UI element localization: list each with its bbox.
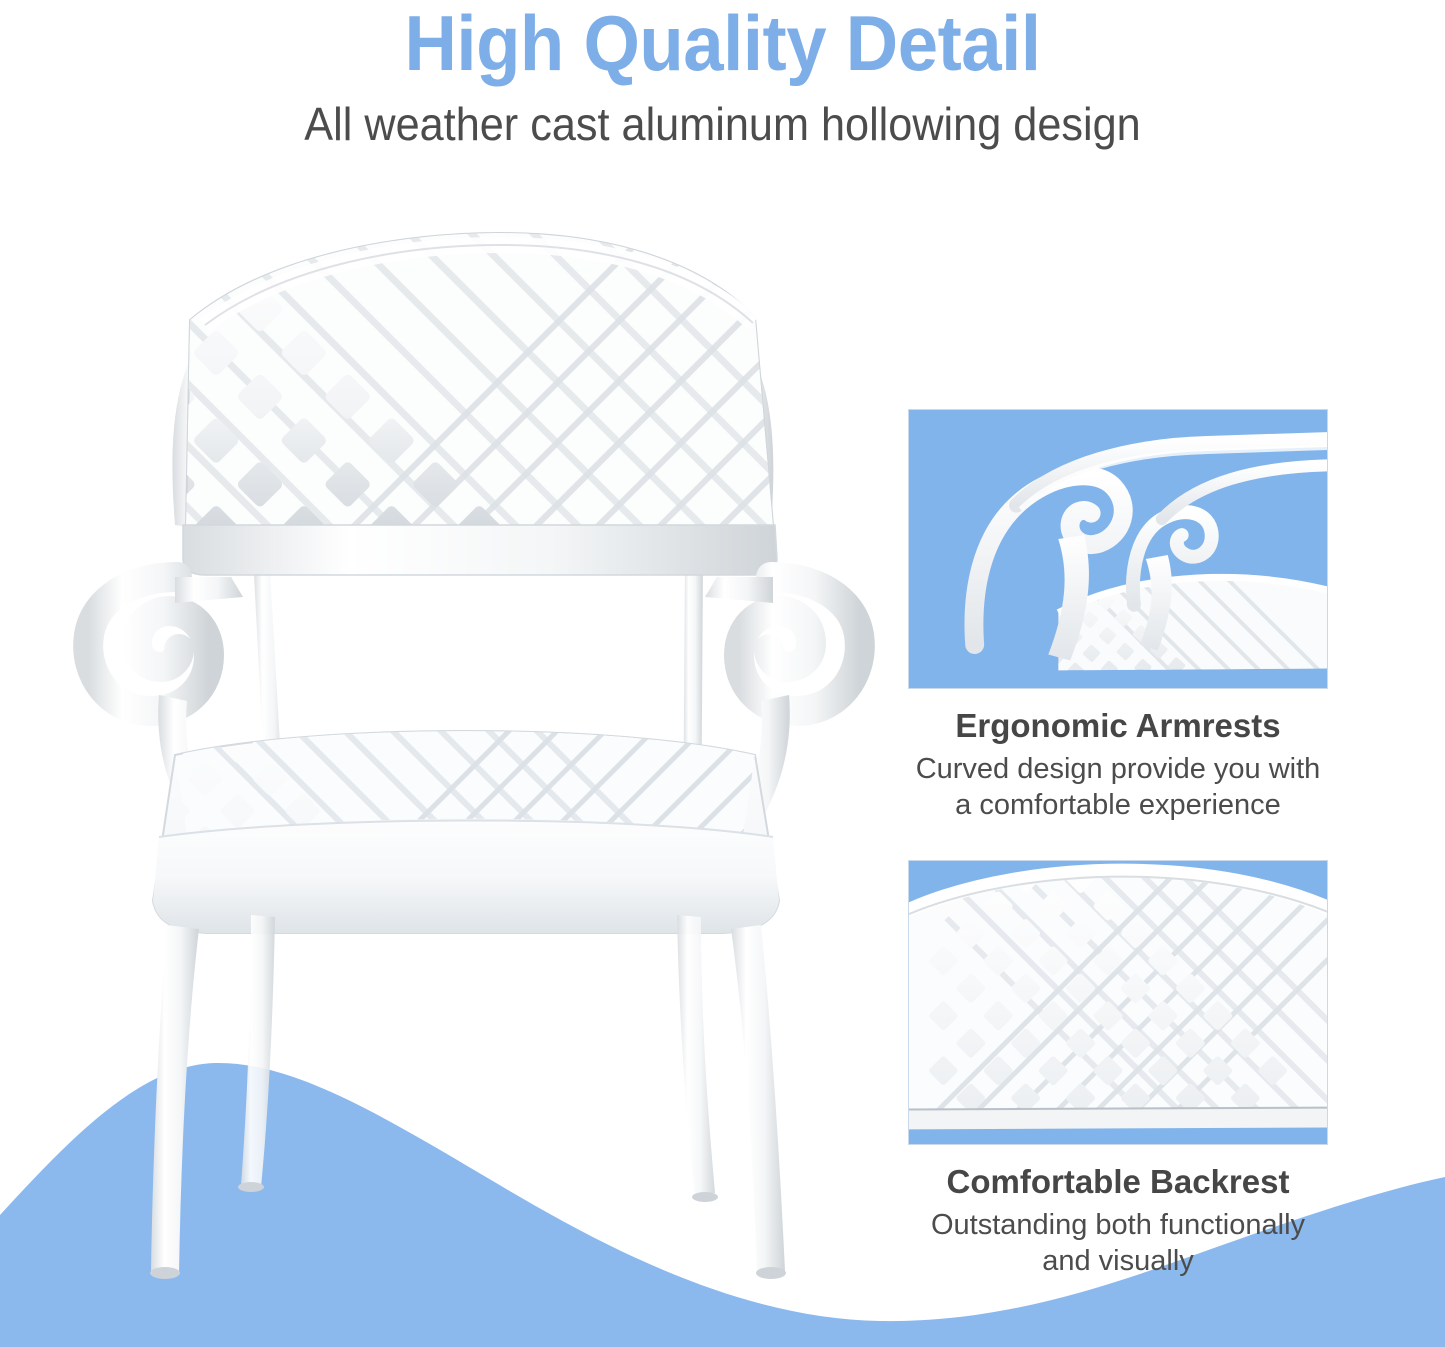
armrest-closeup-image bbox=[909, 410, 1327, 688]
feature-comfortable-backrest: Comfortable Backrest Outstanding both fu… bbox=[908, 860, 1328, 1280]
infographic-page: High Quality Detail All weather cast alu… bbox=[0, 0, 1445, 1347]
feature-desc-line1: Outstanding both functionally bbox=[931, 1209, 1305, 1241]
chair-front-legs bbox=[150, 915, 786, 1279]
feature-desc-line2: and visually bbox=[908, 1243, 1328, 1280]
page-subtitle: All weather cast aluminum hollowing desi… bbox=[43, 84, 1401, 151]
feature-ergonomic-armrests: Ergonomic Armrests Curved design provide… bbox=[908, 409, 1328, 824]
feature-title: Comfortable Backrest bbox=[908, 1145, 1328, 1201]
feature-description: Outstanding both functionally and visual… bbox=[908, 1201, 1328, 1280]
feature-title: Ergonomic Armrests bbox=[908, 689, 1328, 745]
feature-gap bbox=[908, 824, 1328, 860]
backrest-closeup-image bbox=[909, 861, 1327, 1144]
feature-column: Ergonomic Armrests Curved design provide… bbox=[908, 409, 1328, 1280]
backrest-closeup-panel bbox=[908, 860, 1328, 1145]
hero-product-image bbox=[55, 225, 885, 1315]
feature-desc-line2: a comfortable experience bbox=[908, 787, 1328, 824]
armrest-closeup-panel bbox=[908, 409, 1328, 689]
chair-illustration bbox=[55, 225, 885, 1315]
feature-desc-line1: Curved design provide you with bbox=[916, 753, 1321, 785]
page-title: High Quality Detail bbox=[51, 0, 1395, 84]
feature-description: Curved design provide you with a comfort… bbox=[908, 745, 1328, 824]
header: High Quality Detail All weather cast alu… bbox=[0, 0, 1445, 150]
